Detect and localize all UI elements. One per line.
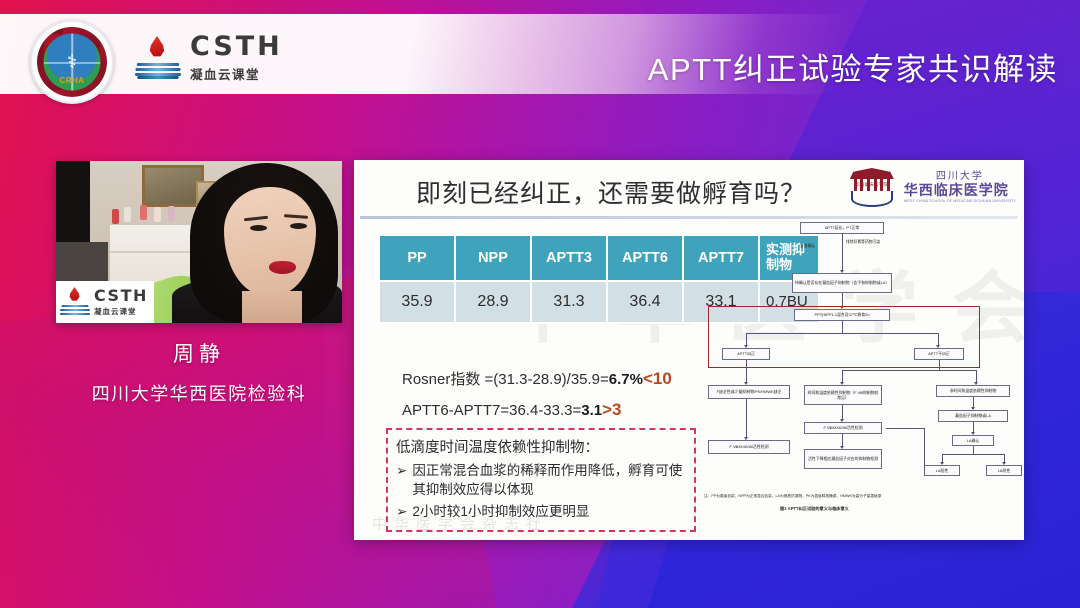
blood-drop-icon	[69, 287, 80, 301]
note-heading: 低滴度时间温度依赖性抑制物：	[396, 436, 686, 457]
shelf-item	[168, 206, 175, 221]
flow-connector	[842, 234, 843, 272]
speaker-neck	[242, 291, 302, 323]
formula-expression: =(31.3-28.9)/35.9=	[480, 371, 608, 388]
aptt-flowchart: APTT延长，PT正常 复查确认 排除肝素等药物污染 待确认是否存在凝血因子抑制…	[704, 222, 1012, 522]
table-cell: 36.4	[607, 281, 683, 323]
flow-node: F Ⅷ/Ⅸ/Ⅺ/Ⅻ活性检测	[708, 440, 790, 454]
watermark-sub-text: 凝血云课堂	[94, 306, 148, 317]
blood-drop-icon	[149, 36, 165, 57]
csth-main-text: CSTH	[190, 33, 283, 60]
speaker-eye	[250, 225, 267, 231]
shelf-item	[112, 209, 119, 224]
header: ⚕ CRHA CSTH 凝血云课堂 APTT纠正试验专家共识解读	[0, 0, 1080, 110]
flow-node: 非时间和温度依赖性抑制物	[936, 385, 1010, 397]
flow-node: F Ⅷ/Ⅸ/Ⅺ/Ⅻ活性检测	[804, 422, 882, 434]
slide-divider	[360, 216, 1018, 219]
flow-node: APTT不纠正	[914, 348, 964, 360]
shelf-item	[154, 207, 161, 222]
arrow-bullet-icon: ➢	[396, 462, 407, 500]
gate-arc	[851, 191, 893, 207]
watermark-text: CSTH 凝血云课堂	[94, 288, 148, 317]
flow-connector	[924, 428, 925, 471]
csth-sub-text: 凝血云课堂	[190, 64, 283, 83]
formula-comparison: <10	[643, 369, 672, 388]
rosner-formula: Rosner指数 =(31.3-28.9)/35.9=6.7%<10	[402, 368, 672, 389]
flow-connector	[746, 399, 747, 439]
university-name: 四川大学	[904, 171, 1016, 183]
flow-connector	[746, 360, 747, 384]
formula-label: APTT6-APTT7	[402, 402, 500, 419]
flow-node: PP与NPP1:1混合及37℃孵育2h	[794, 309, 890, 321]
open-book-icon	[135, 59, 181, 79]
flow-node: 时间和温度依赖性抑制物（F Ⅷ抑制物较常见）	[804, 385, 882, 405]
table-header-cell: NPP	[455, 235, 531, 281]
watermark-mark	[60, 287, 90, 317]
flow-connector	[842, 321, 843, 333]
csth-logo: CSTH 凝血云课堂	[135, 33, 283, 83]
flow-node: APTT纠正	[722, 348, 770, 360]
slide-institution-logos: 华西临床医学院 四川大学 华西临床医学院 WEST CHINA SCHOOL O…	[848, 165, 1016, 209]
globe-icon: ⚕ CRHA	[37, 27, 107, 97]
speaker-video-panel[interactable]: CSTH 凝血云课堂	[56, 161, 342, 323]
video-csth-watermark: CSTH 凝血云课堂	[56, 281, 154, 323]
crha-emblem-logo: ⚕ CRHA	[30, 20, 114, 104]
flow-label: 复查确认	[800, 244, 815, 249]
gate-logo-label: 华西临床医学院	[848, 182, 896, 188]
flow-node: APTT延长，PT正常	[800, 222, 884, 234]
open-book-icon	[60, 302, 90, 315]
speaker-eye	[290, 223, 307, 229]
table-cell: 35.9	[379, 281, 455, 323]
aptt-difference-formula: APTT6-APTT7=36.4-33.3=3.1>3	[402, 400, 622, 420]
table-header-cell: PP	[379, 235, 455, 281]
flow-caption: 注：PP为患者血浆，NPP为正常混合血浆，LA为狼疮抗凝物，PK为激肽释放酶原，…	[704, 494, 881, 499]
flow-connector	[746, 333, 938, 334]
speaker-organization: 四川大学华西医院检验科	[56, 380, 342, 406]
note-item-text: 因正常混合血浆的稀释而作用降低，孵育可使其抑制效应得以体现	[412, 462, 686, 500]
formula-result: 3.1	[581, 402, 602, 419]
flow-node: 活性下降相应凝血因子对应的抑制物检测	[804, 449, 882, 469]
formula-expression: =36.4-33.3=	[500, 402, 581, 419]
flow-node: 凝血因子抑制物或LA	[938, 410, 1008, 422]
shelf-item	[124, 207, 131, 222]
college-name-en: WEST CHINA SCHOOL OF MEDICINE SICHUAN UN…	[904, 199, 1016, 203]
flow-connector	[942, 454, 1004, 455]
table-cell: 31.3	[531, 281, 607, 323]
slide-title: 即刻已经纠正，还需要做孵育吗？	[416, 174, 806, 210]
formula-comparison: >3	[602, 400, 621, 419]
flow-node: LA阴性	[986, 465, 1022, 476]
csth-mark	[135, 35, 181, 81]
csth-wordmark: CSTH 凝血云课堂	[190, 33, 283, 83]
arrow-bullet-icon: ➢	[396, 503, 407, 522]
caduceus-icon: ⚕	[67, 53, 77, 72]
gate-building-icon: 华西临床医学院	[848, 165, 896, 209]
shelf-item	[140, 205, 147, 220]
speaker-face	[224, 187, 316, 295]
formula-result: 6.7%	[609, 371, 643, 388]
flow-node: LA阳性	[924, 465, 960, 476]
note-item-text: 2小时较1小时抑制效应更明显	[412, 503, 589, 522]
flow-connector	[886, 428, 924, 429]
college-name: 华西临床医学院	[904, 182, 1016, 198]
university-wordmark: 四川大学 华西临床医学院 WEST CHINA SCHOOL OF MEDICI…	[904, 171, 1016, 204]
note-list-item: ➢ 因正常混合血浆的稀释而作用降低，孵育可使其抑制效应得以体现	[396, 462, 686, 500]
wall-picture-frame	[142, 165, 204, 207]
table-header-cell: APTT3	[531, 235, 607, 281]
screen-stage: ⚕ CRHA CSTH 凝血云课堂 APTT纠正试验专家共识解读	[0, 0, 1080, 608]
flow-connector	[973, 446, 974, 454]
table-header-cell: APTT6	[607, 235, 683, 281]
speaker-info: 周静 四川大学华西医院检验科	[56, 338, 342, 406]
watermark-main-text: CSTH	[94, 288, 148, 304]
presentation-slide[interactable]: 中华医学会 中华医学会杂志社 即刻已经纠正，还需要做孵育吗？ 华西临床医学院 四…	[354, 160, 1024, 540]
flow-figure-caption: 图2 APTT纠正试验的意义与临床意义	[780, 506, 849, 512]
flow-node: 待确认是否存在凝血因子抑制物（含子和抑制物或LA）	[792, 273, 892, 293]
formula-label: Rosner指数	[402, 371, 480, 388]
speaker-lips	[269, 261, 296, 274]
table-cell: 28.9	[455, 281, 531, 323]
page-title: APTT纠正试验专家共识解读	[648, 44, 1058, 89]
flow-node: F缺乏性或少量抑制物/PK/HMWK缺乏	[708, 385, 790, 399]
flow-node: LA确认	[952, 435, 994, 446]
note-list-item: ➢ 2小时较1小时抑制效应更明显	[396, 503, 686, 522]
flow-label: 排除肝素等药物污染	[846, 240, 880, 245]
flow-connector	[842, 370, 976, 371]
flow-connector	[939, 360, 940, 370]
inhibitor-note-box: 低滴度时间温度依赖性抑制物： ➢ 因正常混合血浆的稀释而作用降低，孵育可使其抑制…	[386, 428, 696, 532]
crha-emblem-label: CRHA	[59, 76, 84, 85]
speaker-name: 周静	[56, 338, 342, 368]
